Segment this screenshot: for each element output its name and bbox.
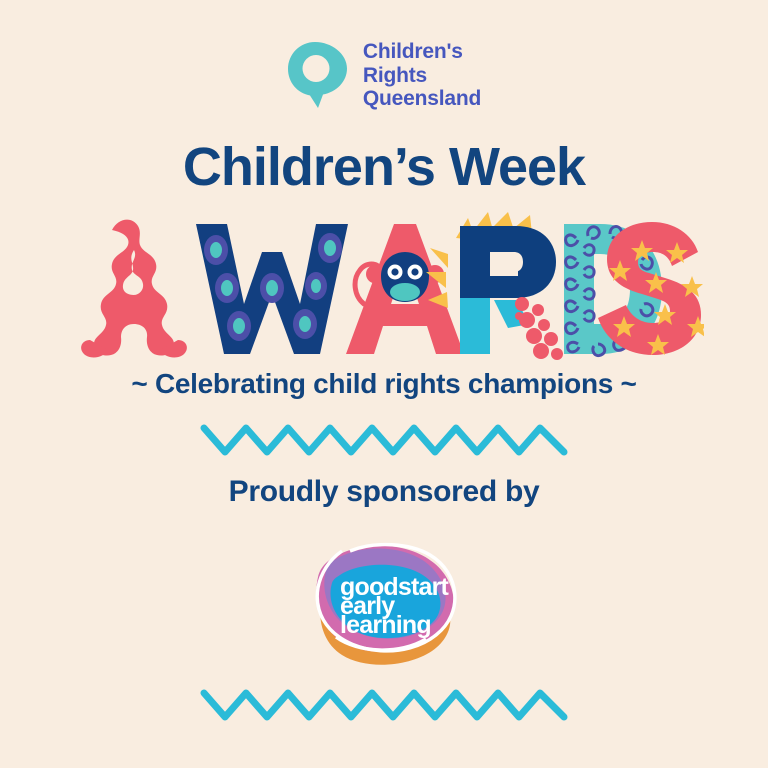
sponsor-logo: goodstart early learning [0,527,768,672]
org-line-2: Rights [363,64,481,88]
tagline: ~ Celebrating child rights champions ~ [0,368,768,400]
letter-w-peacock [196,224,348,354]
organisation-name: Children's Rights Queensland [363,40,481,111]
goodstart-line-3: learning [340,611,431,639]
r-dot-cluster-icon [515,297,563,360]
org-line-3: Queensland [363,87,481,111]
sponsor-label: Proudly sponsored by [0,475,768,509]
zigzag-icon [198,685,570,725]
awards-letters [64,212,704,362]
monkey-face-icon [381,252,429,302]
letter-a-monkey [346,224,464,354]
organisation-logo: Children's Rights Queensland [0,40,768,111]
page-title: Children’s Week [0,136,768,198]
goodstart-logo-icon: goodstart early learning [296,527,472,672]
awards-wordmark [0,212,768,362]
org-line-1: Children's [363,40,481,64]
letter-s-stars [598,222,704,355]
zigzag-icon [198,420,570,460]
letter-a-blobby [81,220,187,358]
zigzag-divider-top [0,420,768,460]
poster-canvas: Children's Rights Queensland Children’s … [0,0,768,768]
speech-bubble-q-icon [287,41,349,109]
zigzag-divider-bottom [0,685,768,725]
r-counter [490,254,518,276]
